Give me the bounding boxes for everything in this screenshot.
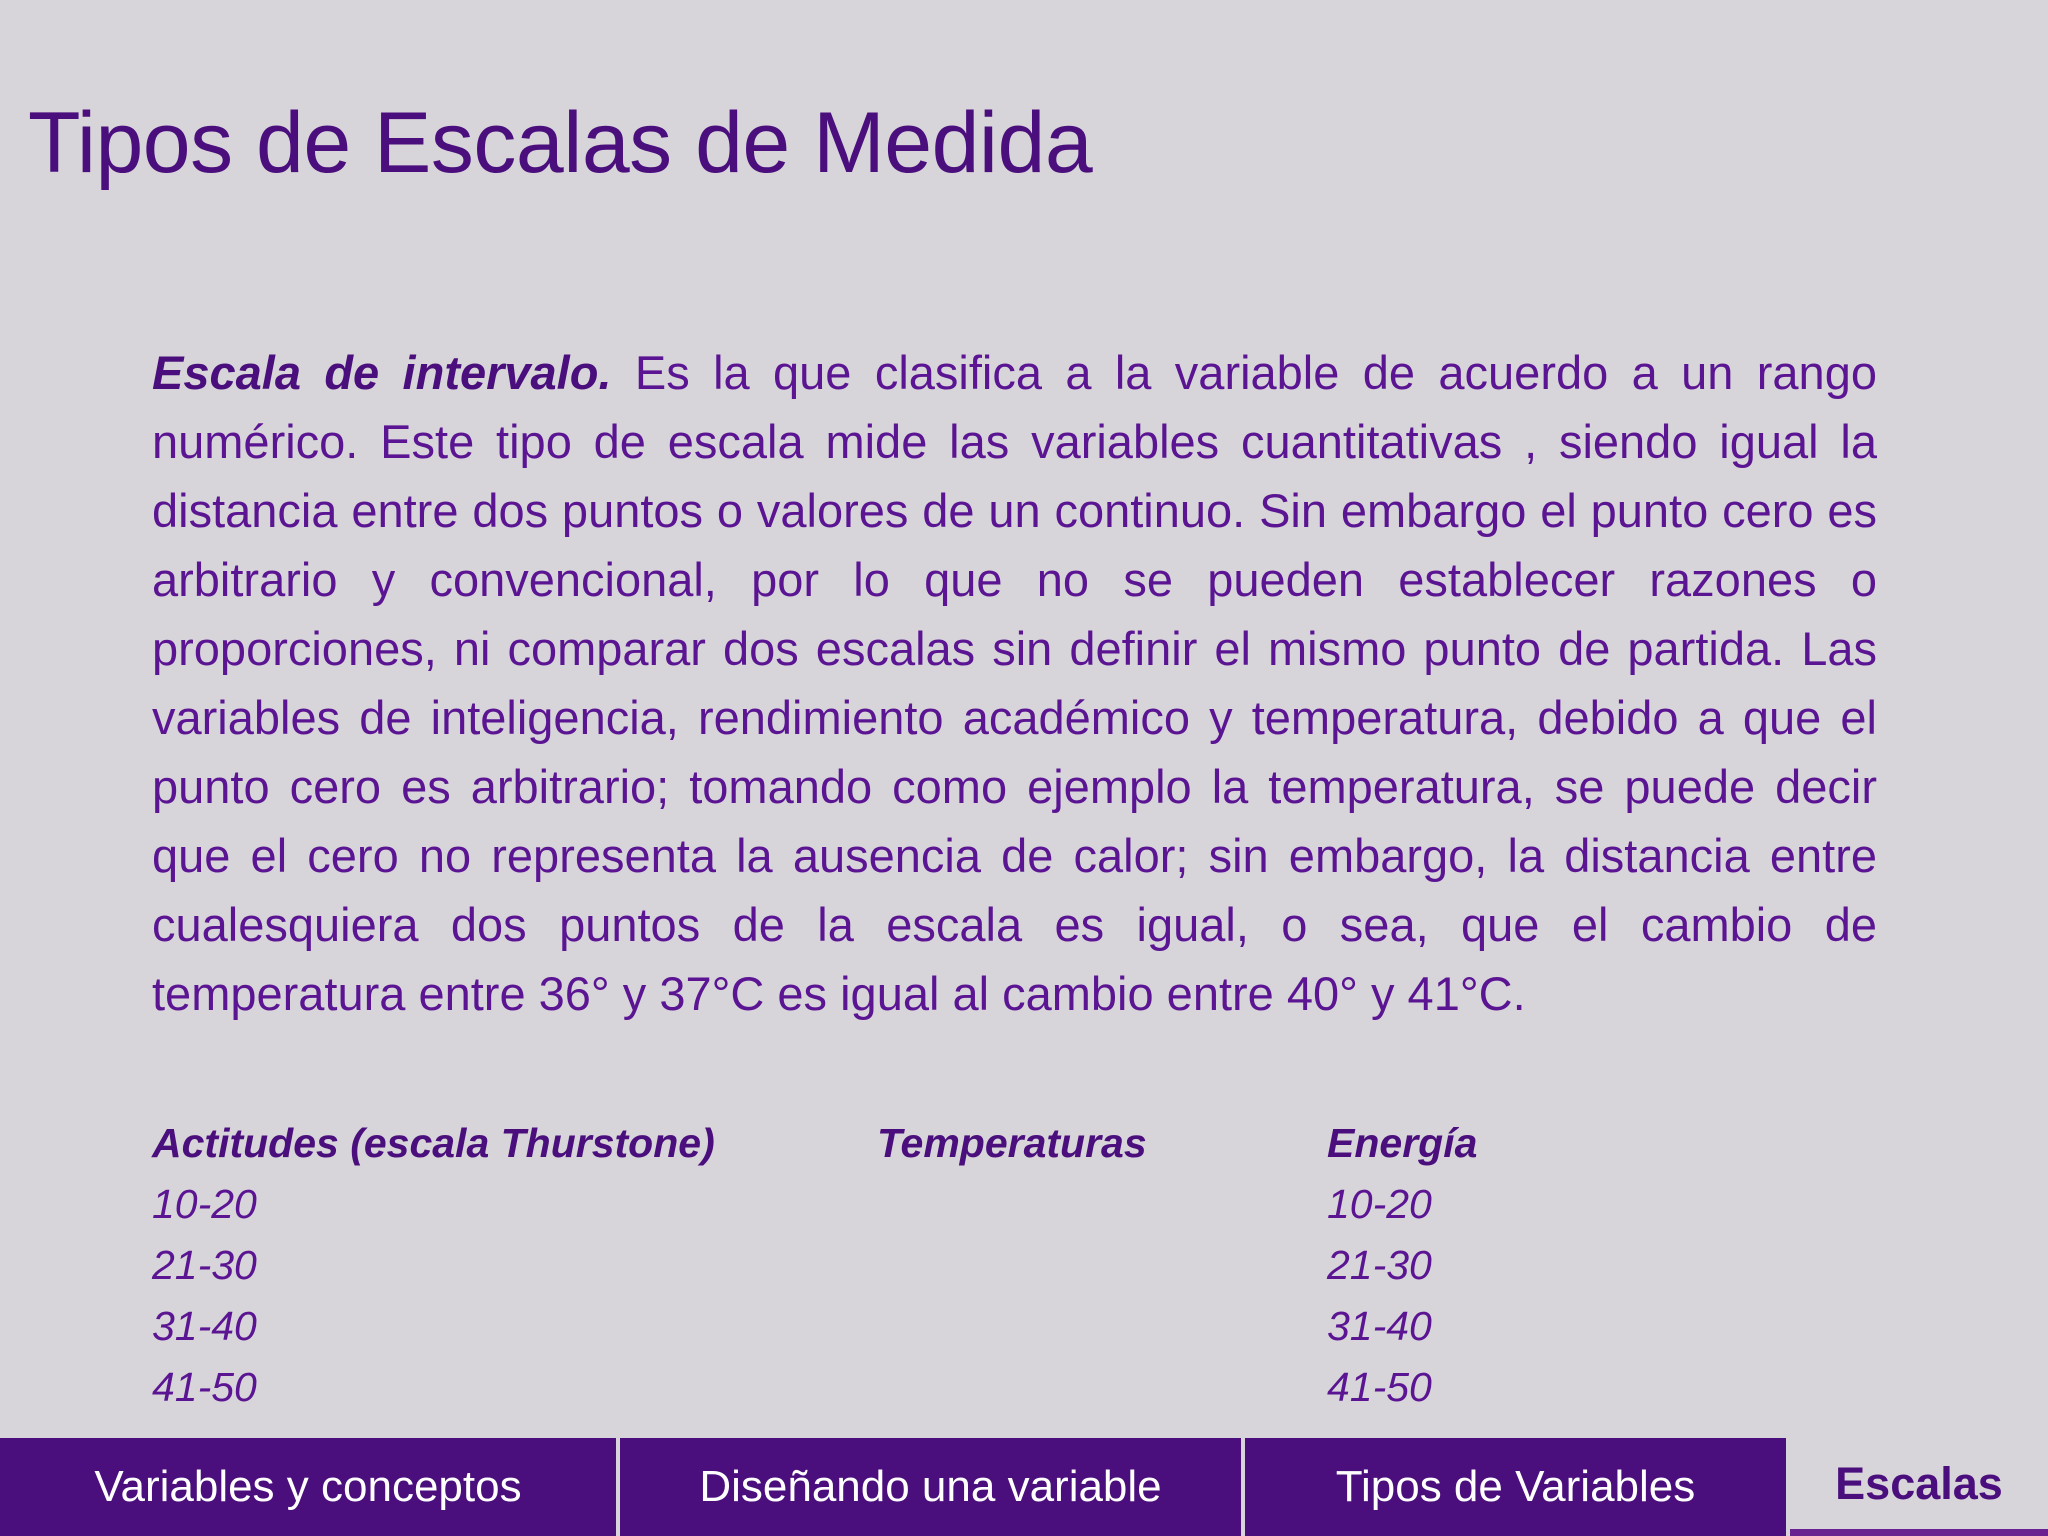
list-item: 31-40 xyxy=(152,1296,877,1357)
page-title: Tipos de Escalas de Medida xyxy=(28,100,1928,188)
list-item: 41-50 xyxy=(152,1357,877,1418)
list-item: 10-20 xyxy=(1327,1174,1827,1235)
tab-disenando-una-variable[interactable]: Diseñando una variable xyxy=(620,1438,1245,1536)
tab-escalas[interactable]: Escalas xyxy=(1790,1438,2048,1536)
body-paragraph-text: Es la que clasifica a la variable de acu… xyxy=(152,346,1877,1020)
list-item: 10-20 xyxy=(152,1174,877,1235)
examples-table: Actitudes (escala Thurstone) 10-20 21-30… xyxy=(152,1112,1877,1418)
body-text-block: Escala de intervalo. Es la que clasifica… xyxy=(152,338,1877,1028)
slide: Tipos de Escalas de Medida Escala de int… xyxy=(0,0,2048,1536)
list-item: 41-50 xyxy=(1327,1357,1827,1418)
column-header-actitudes: Actitudes (escala Thurstone) xyxy=(152,1112,877,1174)
tab-variables-y-conceptos[interactable]: Variables y conceptos xyxy=(0,1438,620,1536)
tab-tipos-de-variables[interactable]: Tipos de Variables xyxy=(1245,1438,1790,1536)
example-column-temperaturas: Temperaturas xyxy=(877,1112,1327,1174)
body-lead-term: Escala de intervalo. xyxy=(152,346,612,399)
column-header-energia: Energía xyxy=(1327,1112,1827,1174)
bottom-navigation: Variables y conceptos Diseñando una vari… xyxy=(0,1438,2048,1536)
example-column-energia: Energía 10-20 21-30 31-40 41-50 xyxy=(1327,1112,1827,1418)
column-header-temperaturas: Temperaturas xyxy=(877,1112,1327,1174)
list-item: 21-30 xyxy=(152,1235,877,1296)
example-column-actitudes: Actitudes (escala Thurstone) 10-20 21-30… xyxy=(152,1112,877,1418)
list-item: 31-40 xyxy=(1327,1296,1827,1357)
body-paragraph: Escala de intervalo. Es la que clasifica… xyxy=(152,338,1877,1028)
list-item: 21-30 xyxy=(1327,1235,1827,1296)
